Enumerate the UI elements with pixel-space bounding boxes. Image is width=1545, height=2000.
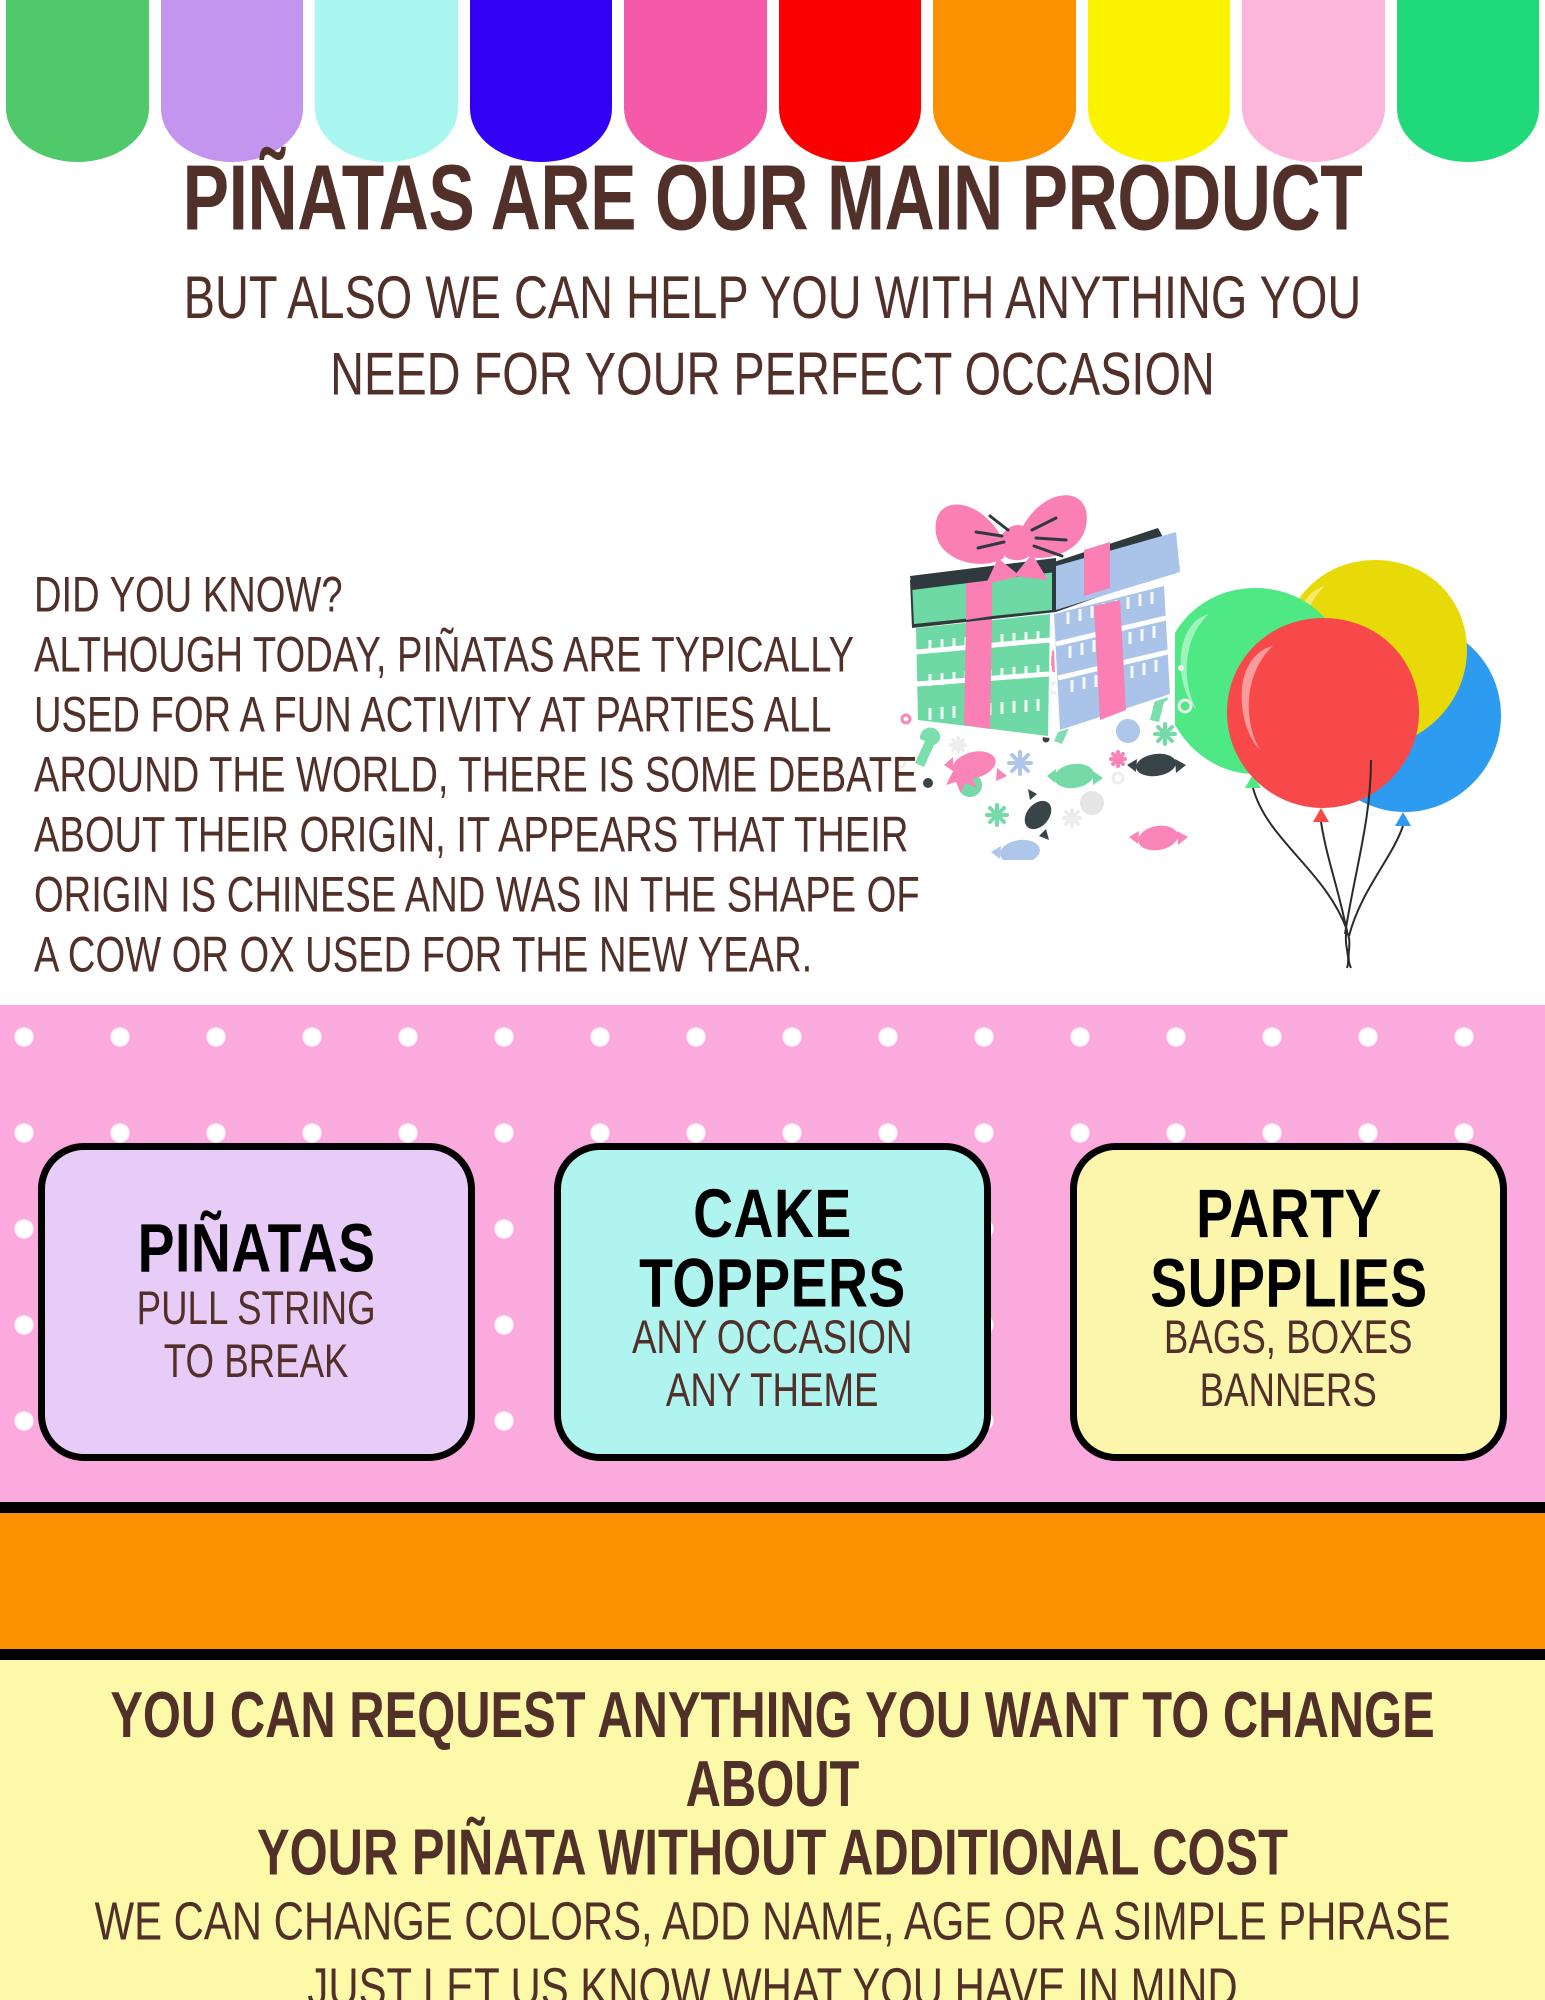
card-title: PIÑATAS xyxy=(138,1215,376,1283)
page-title: PIÑATAS ARE OUR MAIN PRODUCT xyxy=(46,150,1498,245)
body-line: USED FOR A FUN ACTIVITY AT PARTIES ALL xyxy=(34,690,871,740)
scallop-tab xyxy=(933,0,1076,162)
card-party-supplies[interactable]: PARTY SUPPLIES BAGS, BOXES BANNERS xyxy=(1070,1143,1507,1461)
footer-headline-line-1: YOU CAN REQUEST ANYTHING YOU WANT TO CHA… xyxy=(46,1682,1498,1820)
scallop-tab xyxy=(624,0,767,162)
card-subtitle-line-1: PULL STRING xyxy=(137,1283,376,1335)
orange-divider xyxy=(0,1502,1545,1660)
body-line: DID YOU KNOW? xyxy=(34,570,871,620)
card-title-line-2: SUPPLIES xyxy=(1150,1249,1427,1319)
footer-subtext: WE CAN CHANGE COLORS, ADD NAME, AGE OR A… xyxy=(54,1889,1491,2000)
card-subtitle-line-2: BANNERS xyxy=(1164,1365,1413,1417)
footer-subtext-line-2: JUST LET US KNOW WHAT YOU HAVE IN MIND xyxy=(54,1955,1491,2000)
footer-subtext-line-1: WE CAN CHANGE COLORS, ADD NAME, AGE OR A… xyxy=(54,1889,1491,1955)
body-line: ORIGIN IS CHINESE AND WAS IN THE SHAPE O… xyxy=(34,870,871,920)
footer-band: YOU CAN REQUEST ANYTHING YOU WANT TO CHA… xyxy=(0,1660,1545,2000)
did-you-know-paragraph: DID YOU KNOW? ALTHOUGH TODAY, PIÑATAS AR… xyxy=(34,570,934,990)
scallop-tab xyxy=(1088,0,1231,162)
scallop-tab xyxy=(779,0,922,162)
card-subtitle-line-1: ANY OCCASION xyxy=(632,1313,912,1365)
card-title: CAKE TOPPERS xyxy=(639,1180,906,1320)
scallop-tab xyxy=(161,0,304,162)
poster-page: PIÑATAS ARE OUR MAIN PRODUCT BUT ALSO WE… xyxy=(0,0,1545,2000)
card-subtitle-line-2: TO BREAK xyxy=(137,1336,376,1388)
body-line: A COW OR OX USED FOR THE NEW YEAR. xyxy=(34,930,871,980)
body-line: ABOUT THEIR ORIGIN, IT APPEARS THAT THEI… xyxy=(34,810,871,860)
page-subtitle: BUT ALSO WE CAN HELP YOU WITH ANYTHING Y… xyxy=(62,259,1483,413)
scallop-tab xyxy=(6,0,149,162)
subtitle-line-2: NEED FOR YOUR PERFECT OCCASION xyxy=(62,336,1483,413)
card-title-line-1: CAKE xyxy=(639,1180,906,1250)
scallop-tab xyxy=(1397,0,1540,162)
subtitle-line-1: BUT ALSO WE CAN HELP YOU WITH ANYTHING Y… xyxy=(62,259,1483,336)
card-title-line-1: PARTY xyxy=(1150,1180,1427,1250)
card-subtitle: BAGS, BOXES BANNERS xyxy=(1164,1313,1413,1418)
category-cards: PIÑATAS PULL STRING TO BREAK CAKE TOPPER… xyxy=(0,1143,1545,1461)
card-subtitle-line-2: ANY THEME xyxy=(632,1365,912,1417)
balloons-icon xyxy=(1175,540,1505,975)
card-subtitle: PULL STRING TO BREAK xyxy=(137,1283,376,1388)
card-subtitle-line-1: BAGS, BOXES xyxy=(1164,1313,1413,1365)
card-pinatas[interactable]: PIÑATAS PULL STRING TO BREAK xyxy=(38,1143,475,1461)
body-line: AROUND THE WORLD, THERE IS SOME DEBATE xyxy=(34,750,871,800)
card-title: PARTY SUPPLIES xyxy=(1150,1180,1427,1320)
scallop-tab xyxy=(1242,0,1385,162)
body-line: ALTHOUGH TODAY, PIÑATAS ARE TYPICALLY xyxy=(34,630,871,680)
footer-headline: YOU CAN REQUEST ANYTHING YOU WANT TO CHA… xyxy=(46,1682,1498,1889)
card-cake-toppers[interactable]: CAKE TOPPERS ANY OCCASION ANY THEME xyxy=(554,1143,991,1461)
scallop-tab xyxy=(470,0,613,162)
scallop-tab xyxy=(315,0,458,162)
header: PIÑATAS ARE OUR MAIN PRODUCT BUT ALSO WE… xyxy=(0,150,1545,390)
card-title-line-2: TOPPERS xyxy=(639,1249,906,1319)
footer-headline-line-2: YOUR PIÑATA WITHOUT ADDITIONAL COST xyxy=(46,1820,1498,1889)
card-subtitle: ANY OCCASION ANY THEME xyxy=(632,1313,912,1418)
